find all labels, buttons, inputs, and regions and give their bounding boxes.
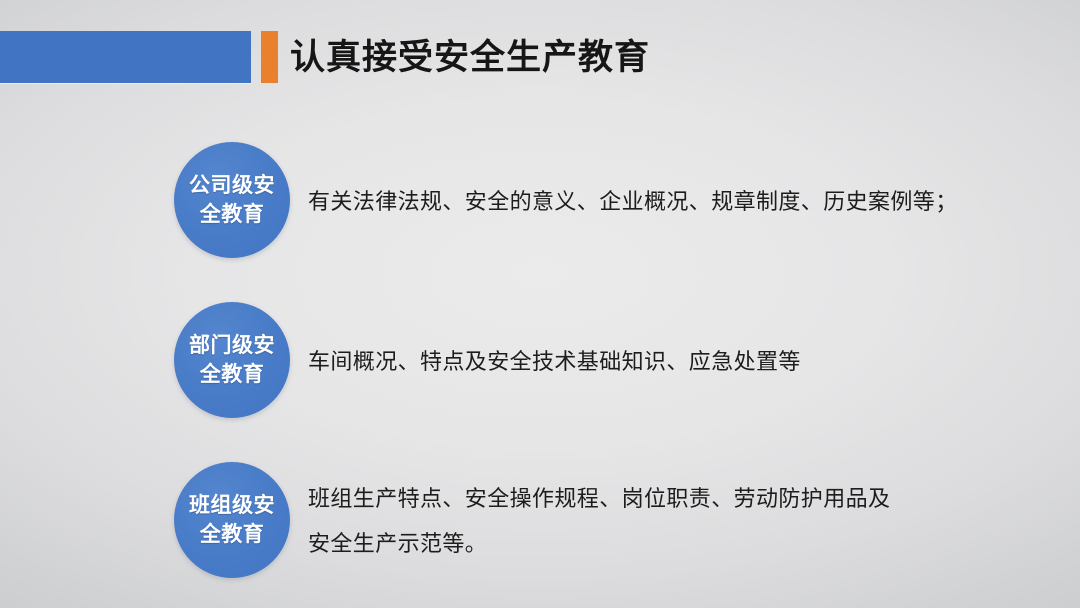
step-node-label-line-1: 班组级安 — [189, 491, 275, 520]
step-description-2: 车间概况、特点及安全技术基础知识、应急处置等 — [308, 340, 1048, 385]
step-node-label-line-2: 全教育 — [200, 200, 265, 229]
step-description-line: 车间概况、特点及安全技术基础知识、应急处置等 — [308, 340, 1048, 385]
step-node-label-line-2: 全教育 — [200, 360, 265, 389]
step-node-label-line-1: 公司级安 — [189, 171, 275, 200]
step-description-line: 有关法律法规、安全的意义、企业概况、规章制度、历史案例等； — [308, 180, 1048, 225]
step-description-line: 安全生产示范等。 — [308, 522, 1048, 567]
step-description-line: 班组生产特点、安全操作规程、岗位职责、劳动防护用品及 — [308, 477, 1048, 522]
step-description-3: 班组生产特点、安全操作规程、岗位职责、劳动防护用品及 安全生产示范等。 — [308, 477, 1048, 567]
flow-diagram: 公司级安 全教育 有关法律法规、安全的意义、企业概况、规章制度、历史案例等； 部… — [0, 110, 1080, 608]
step-node-circle-1[interactable]: 公司级安 全教育 — [174, 142, 290, 258]
step-node-circle-3[interactable]: 班组级安 全教育 — [174, 462, 290, 578]
header-blue-bar — [0, 31, 251, 83]
page-title: 认真接受安全生产教育 — [290, 33, 650, 83]
step-node-label-line-2: 全教育 — [200, 520, 265, 549]
step-node-label-line-1: 部门级安 — [189, 331, 275, 360]
slide-header: 认真接受安全生产教育 — [0, 0, 1080, 110]
slide-canvas: 认真接受安全生产教育 公司级安 全教育 有关法律法规、安全的意义、企业概况、规章… — [0, 0, 1080, 608]
step-description-1: 有关法律法规、安全的意义、企业概况、规章制度、历史案例等； — [308, 180, 1048, 225]
header-orange-accent-bar — [261, 31, 278, 83]
step-node-circle-2[interactable]: 部门级安 全教育 — [174, 302, 290, 418]
